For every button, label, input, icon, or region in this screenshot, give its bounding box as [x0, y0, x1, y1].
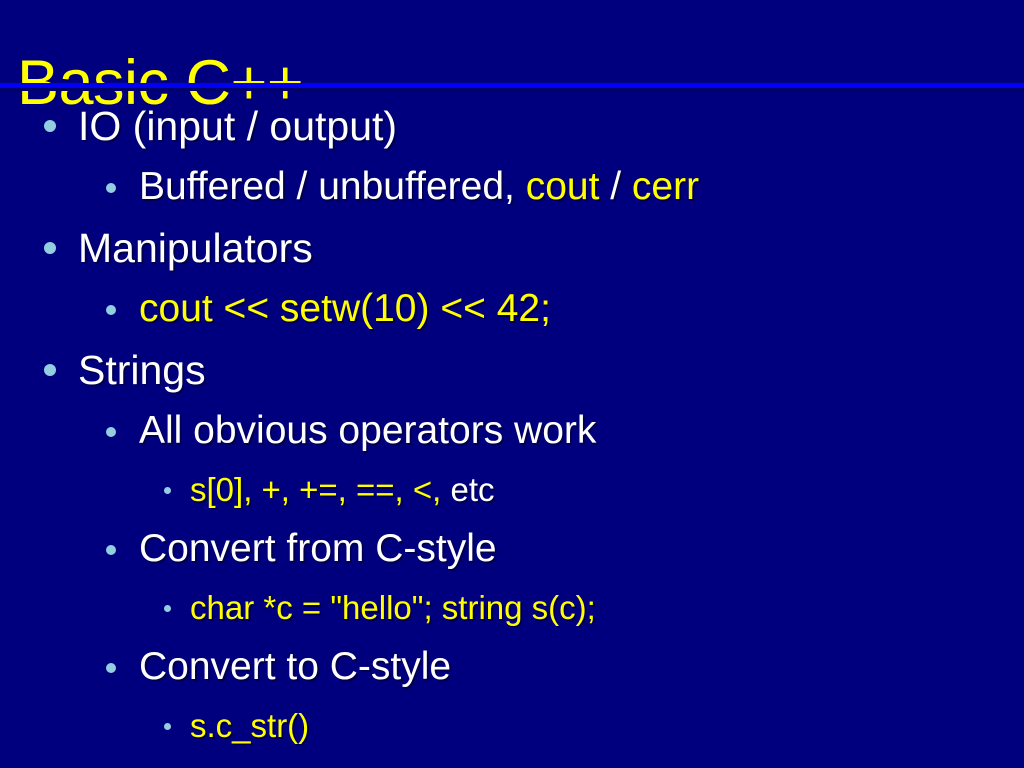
list-item-label: char *c = "hello"; string s(c);	[190, 579, 596, 637]
list-item: s[0], +, +=, ==, <, etc	[0, 461, 1024, 519]
disc-bullet-icon	[164, 605, 171, 612]
list-item-label: All obvious operators work	[139, 401, 596, 461]
text-span: etc	[441, 471, 494, 508]
list-item-label: cout << setw(10) << 42;	[139, 279, 551, 339]
list-item-label: s.c_str()	[190, 697, 309, 755]
disc-bullet-icon	[106, 305, 116, 315]
list-item: char *c = "hello"; string s(c);	[0, 579, 1024, 637]
code-span: cout	[526, 165, 611, 208]
code-span: s.c_str()	[190, 707, 309, 744]
list-item: cout << setw(10) << 42;	[0, 279, 1024, 339]
list-item-label: Buffered / unbuffered, cout / cerr	[139, 157, 699, 217]
disc-bullet-icon	[164, 723, 171, 730]
list-item-label: Manipulators	[78, 217, 313, 279]
list-item-label: Convert to C-style	[139, 637, 451, 697]
disc-bullet-icon	[44, 120, 56, 132]
list-item: Manipulators	[0, 217, 1024, 279]
slide-body-list: IO (input / output)Buffered / unbuffered…	[0, 95, 1024, 755]
list-item-label: IO (input / output)	[78, 95, 397, 157]
code-span: char *c = "hello"; string s(c);	[190, 589, 596, 626]
list-item: IO (input / output)	[0, 95, 1024, 157]
disc-bullet-icon	[106, 427, 116, 437]
list-item: Buffered / unbuffered, cout / cerr	[0, 157, 1024, 217]
list-item-label: Strings	[78, 339, 206, 401]
list-item: Strings	[0, 339, 1024, 401]
text-span: All obvious operators work	[139, 409, 596, 452]
text-span: Buffered / unbuffered,	[139, 165, 526, 208]
text-span: Manipulators	[78, 225, 313, 271]
disc-bullet-icon	[44, 364, 56, 376]
title-divider-shadow	[0, 88, 1024, 91]
text-span: Convert from C-style	[139, 527, 497, 570]
text-span: IO (input / output)	[78, 103, 397, 149]
list-item-label: s[0], +, +=, ==, <, etc	[190, 461, 495, 519]
disc-bullet-icon	[106, 183, 116, 193]
disc-bullet-icon	[44, 242, 56, 254]
code-span: cout << setw(10) << 42;	[139, 287, 551, 330]
text-span: Strings	[78, 347, 206, 393]
list-item: Convert from C-style	[0, 519, 1024, 579]
text-span: /	[610, 165, 632, 208]
list-item: All obvious operators work	[0, 401, 1024, 461]
text-span: Convert to C-style	[139, 645, 451, 688]
disc-bullet-icon	[106, 545, 116, 555]
code-span: cerr	[632, 165, 699, 208]
code-span: s[0], +, +=, ==, <,	[190, 471, 441, 508]
list-item-label: Convert from C-style	[139, 519, 497, 579]
disc-bullet-icon	[106, 663, 116, 673]
slide-canvas: Basic C++ IO (input / output)Buffered / …	[0, 0, 1024, 768]
disc-bullet-icon	[164, 487, 171, 494]
list-item: s.c_str()	[0, 697, 1024, 755]
list-item: Convert to C-style	[0, 637, 1024, 697]
